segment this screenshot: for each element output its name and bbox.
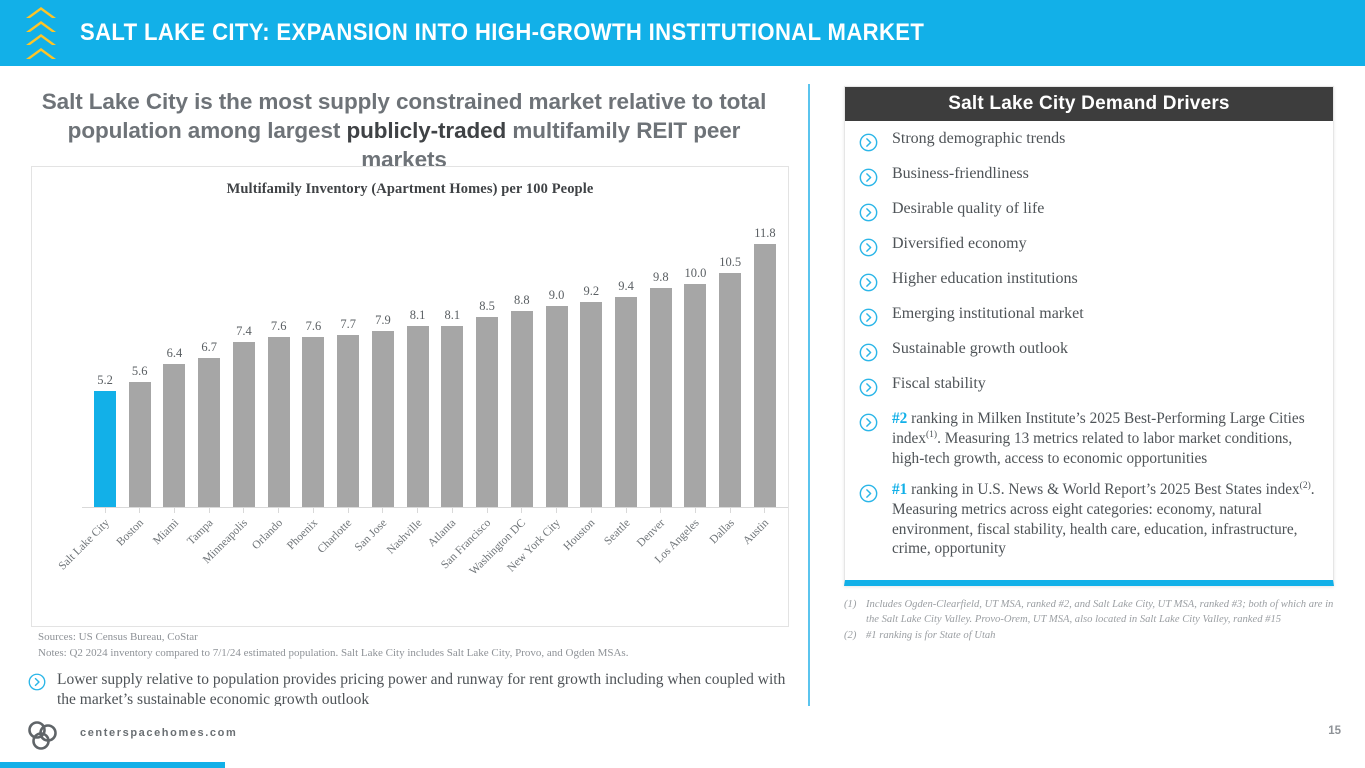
subtitle-emphasis: publicly-traded <box>346 118 506 143</box>
driver-item: Desirable quality of life <box>859 199 1319 227</box>
rank-text-a: ranking in U.S. News & World Report’s 20… <box>907 481 1299 498</box>
bar <box>754 244 776 507</box>
chevron-circle-icon <box>859 168 878 192</box>
subtitle: Salt Lake City is the most supply constr… <box>30 88 778 174</box>
bar <box>441 326 463 507</box>
bar <box>372 331 394 507</box>
driver-item: Fiscal stability <box>859 374 1319 402</box>
chart-title: Multifamily Inventory (Apartment Homes) … <box>32 181 788 198</box>
category-label: Minneapolis <box>229 515 259 611</box>
x-axis-ticks <box>90 508 780 514</box>
bar <box>129 382 151 507</box>
bar-item: 9.0 <box>542 217 572 507</box>
category-label: Houston <box>576 515 606 611</box>
axis-tick <box>472 508 502 514</box>
bar-item: 9.8 <box>646 217 676 507</box>
axis-tick <box>159 508 189 514</box>
rank-badge: #2 <box>892 410 907 427</box>
footnote-ref: (2) <box>1300 481 1311 491</box>
page-number: 15 <box>1328 725 1341 737</box>
bar-item: 6.7 <box>194 217 224 507</box>
driver-label: Fiscal stability <box>892 374 986 394</box>
chevron-circle-icon <box>859 343 878 367</box>
bar-item: 8.5 <box>472 217 502 507</box>
bar <box>163 364 185 507</box>
chevron-circle-icon <box>859 203 878 227</box>
bar <box>476 317 498 507</box>
page-title: SALT LAKE CITY: EXPANSION INTO HIGH-GROW… <box>80 19 924 47</box>
bar <box>615 297 637 507</box>
category-label: Orlando <box>264 515 294 611</box>
sources-line: Sources: US Census Bureau, CoStar <box>38 630 798 646</box>
category-label: Austin <box>750 515 780 611</box>
bar-item: 5.2 <box>90 217 120 507</box>
footnote-item: (2)#1 ranking is for State of Utah <box>844 629 1334 644</box>
driver-label: Strong demographic trends <box>892 129 1065 149</box>
axis-tick <box>333 508 363 514</box>
footnote-item: (1)Includes Ogden-Clearfield, UT MSA, ra… <box>844 598 1334 627</box>
bar-highlighted <box>94 391 116 507</box>
driver-label: Sustainable growth outlook <box>892 339 1068 359</box>
demand-drivers-panel: Salt Lake City Demand Drivers Strong dem… <box>844 86 1334 586</box>
axis-tick <box>680 508 710 514</box>
bar-value-label: 10.5 <box>710 255 750 270</box>
panel-header: Salt Lake City Demand Drivers <box>845 87 1333 121</box>
axis-tick <box>646 508 676 514</box>
bar <box>268 337 290 507</box>
right-column: Salt Lake City Demand Drivers Strong dem… <box>844 86 1334 644</box>
bar <box>198 358 220 507</box>
ranked-driver-label: #1 ranking in U.S. News & World Report’s… <box>892 480 1319 560</box>
slide-root: SALT LAKE CITY: EXPANSION INTO HIGH-GROW… <box>0 0 1365 768</box>
driver-item: Business-friendliness <box>859 164 1319 192</box>
footnote-marker: (1) <box>844 598 866 627</box>
category-label: Phoenix <box>298 515 328 611</box>
bar-item: 9.4 <box>611 217 641 507</box>
bar-item: 7.7 <box>333 217 363 507</box>
footnote-text: Includes Ogden-Clearfield, UT MSA, ranke… <box>866 598 1334 627</box>
axis-tick <box>298 508 328 514</box>
driver-label: Higher education institutions <box>892 269 1078 289</box>
axis-tick <box>403 508 433 514</box>
bar-item: 6.4 <box>159 217 189 507</box>
axis-tick <box>715 508 745 514</box>
chevron-circle-icon <box>859 133 878 157</box>
bar <box>233 342 255 507</box>
axis-tick <box>125 508 155 514</box>
bar <box>650 288 672 507</box>
chevron-circle-icon <box>859 413 878 437</box>
chart-card: Multifamily Inventory (Apartment Homes) … <box>31 166 789 627</box>
driver-label: Business-friendliness <box>892 164 1029 184</box>
chevron-circle-icon <box>859 484 878 508</box>
category-label: Miami <box>159 515 189 611</box>
bar-item: 5.6 <box>125 217 155 507</box>
bar-value-label: 11.8 <box>745 226 785 241</box>
bar-value-label: 6.7 <box>189 340 229 355</box>
driver-label: Desirable quality of life <box>892 199 1044 219</box>
chart-plot-area: 5.25.66.46.77.47.67.67.77.98.18.18.58.89… <box>90 217 780 507</box>
bar-series: 5.25.66.46.77.47.67.67.77.98.18.18.58.89… <box>90 217 780 507</box>
bar-item: 8.1 <box>403 217 433 507</box>
footnote-text: #1 ranking is for State of Utah <box>866 629 1334 644</box>
bar <box>337 335 359 507</box>
chevron-circle-icon <box>859 378 878 402</box>
driver-item: Sustainable growth outlook <box>859 339 1319 367</box>
axis-tick <box>542 508 572 514</box>
list-item-label: Lower supply relative to population prov… <box>57 670 800 711</box>
axis-tick <box>229 508 259 514</box>
rank-badge: #1 <box>892 481 907 498</box>
left-column: Salt Lake City is the most supply constr… <box>0 66 808 706</box>
chevron-circle-icon <box>859 308 878 332</box>
bar <box>302 337 324 507</box>
driver-item: Emerging institutional market <box>859 304 1319 332</box>
chevron-circle-icon <box>859 238 878 262</box>
chevron-circle-icon <box>859 273 878 297</box>
bar-item: 9.2 <box>576 217 606 507</box>
notes-line: Notes: Q2 2024 inventory compared to 7/1… <box>38 646 798 662</box>
chevron-circle-icon <box>28 673 46 696</box>
bar <box>684 284 706 507</box>
list-item: Lower supply relative to population prov… <box>28 670 800 711</box>
centerspace-trefoil-icon <box>26 720 60 755</box>
ranked-driver-label: #2 ranking in Milken Institute’s 2025 Be… <box>892 409 1319 469</box>
footer-accent-bar <box>0 762 225 768</box>
axis-tick <box>507 508 537 514</box>
category-label: Seattle <box>611 515 641 611</box>
axis-tick <box>611 508 641 514</box>
axis-tick <box>368 508 398 514</box>
footnote-ref: (1) <box>926 430 937 440</box>
category-label: Nashville <box>403 515 433 611</box>
panel-title: Salt Lake City Demand Drivers <box>948 93 1229 115</box>
bar-item: 8.1 <box>437 217 467 507</box>
ranked-driver-item: #2 ranking in Milken Institute’s 2025 Be… <box>859 409 1319 469</box>
category-label: San Jose <box>368 515 398 611</box>
slide-header: SALT LAKE CITY: EXPANSION INTO HIGH-GROW… <box>0 0 1365 66</box>
bar-item: 7.6 <box>298 217 328 507</box>
slide-footer: centerspacehomes.com 15 <box>0 706 1365 768</box>
chart-sources-notes: Sources: US Census Bureau, CoStar Notes:… <box>38 630 798 662</box>
bar-item: 10.5 <box>715 217 745 507</box>
driver-item: Diversified economy <box>859 234 1319 262</box>
axis-tick <box>264 508 294 514</box>
category-label: Los Angeles <box>680 515 710 611</box>
ranked-driver-item: #1 ranking in U.S. News & World Report’s… <box>859 480 1319 560</box>
bar-value-label: 5.6 <box>120 364 160 379</box>
bar <box>407 326 429 507</box>
column-divider <box>808 84 810 706</box>
bar-item: 7.9 <box>368 217 398 507</box>
bar <box>580 302 602 507</box>
axis-tick <box>750 508 780 514</box>
driver-label: Emerging institutional market <box>892 304 1084 324</box>
category-label: Salt Lake City <box>90 515 120 611</box>
bar-item: 7.4 <box>229 217 259 507</box>
category-label: Dallas <box>715 515 745 611</box>
bar-item: 8.8 <box>507 217 537 507</box>
category-label: Boston <box>125 515 155 611</box>
chevron-stack-icon <box>26 7 56 59</box>
footer-website[interactable]: centerspacehomes.com <box>80 727 237 739</box>
axis-tick <box>194 508 224 514</box>
bar-item: 7.6 <box>264 217 294 507</box>
axis-tick <box>90 508 120 514</box>
axis-tick <box>437 508 467 514</box>
rank-text-b: . Measuring 13 metrics related to labor … <box>892 430 1292 467</box>
footnote-list: (1)Includes Ogden-Clearfield, UT MSA, ra… <box>844 598 1334 643</box>
bar-item: 10.0 <box>680 217 710 507</box>
x-axis-category-labels: Salt Lake CityBostonMiamiTampaMinneapoli… <box>90 515 780 611</box>
driver-item: Higher education institutions <box>859 269 1319 297</box>
bar <box>546 306 568 507</box>
bar <box>719 273 741 507</box>
bar <box>511 311 533 507</box>
category-label: Charlotte <box>333 515 363 611</box>
driver-label: Diversified economy <box>892 234 1027 254</box>
category-label: New York City <box>542 515 572 611</box>
panel-body: Strong demographic trendsBusiness-friend… <box>845 121 1333 580</box>
axis-tick <box>576 508 606 514</box>
driver-item: Strong demographic trends <box>859 129 1319 157</box>
footnote-marker: (2) <box>844 629 866 644</box>
bar-item: 11.8 <box>750 217 780 507</box>
